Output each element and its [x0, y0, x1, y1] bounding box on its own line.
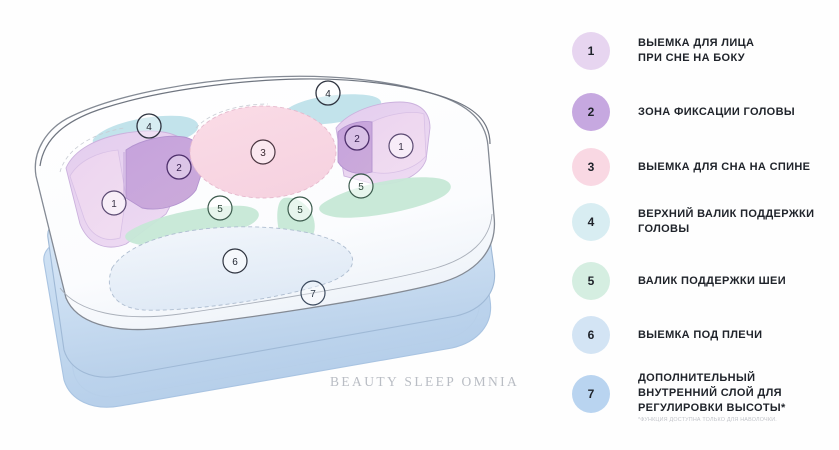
diagram-marker[interactable]: 4	[137, 114, 161, 138]
legend-badge-2: 2	[572, 93, 610, 131]
diagram-marker[interactable]: 1	[389, 134, 413, 158]
legend-item-7[interactable]: 7 ДОПОЛНИТЕЛЬНЫЙ ВНУТРЕННИЙ СЛОЙ ДЛЯ РЕГ…	[572, 371, 786, 416]
diagram-marker[interactable]: 1	[102, 191, 126, 215]
diagram-marker[interactable]: 7	[301, 281, 325, 305]
diagram-marker[interactable]: 4	[316, 81, 340, 105]
svg-text:7: 7	[310, 289, 316, 300]
svg-text:1: 1	[111, 199, 117, 210]
svg-text:5: 5	[358, 182, 364, 193]
diagram-marker[interactable]: 2	[345, 126, 369, 150]
legend-badge-7: 7	[572, 375, 610, 413]
diagram-marker[interactable]: 5	[208, 196, 232, 220]
legend-footnote: *ФУНКЦИЯ ДОСТУПНА ТОЛЬКО ДЛЯ НАВОЛОЧКИ.	[638, 417, 777, 423]
legend-label-3: ВЫЕМКА ДЛЯ СНА НА СПИНЕ	[638, 160, 810, 175]
svg-text:2: 2	[176, 163, 182, 174]
legend-label-4: ВЕРХНИЙ ВАЛИК ПОДДЕРЖКИ ГОЛОВЫ	[638, 207, 814, 237]
legend-item-1[interactable]: 1 ВЫЕМКА ДЛЯ ЛИЦА ПРИ СНЕ НА БОКУ	[572, 32, 754, 70]
brand-wordmark: BEAUTY SLEEP OMNIA	[330, 374, 519, 390]
legend-item-4[interactable]: 4 ВЕРХНИЙ ВАЛИК ПОДДЕРЖКИ ГОЛОВЫ	[572, 203, 814, 241]
legend-label-6: ВЫЕМКА ПОД ПЛЕЧИ	[638, 328, 762, 343]
diagram-marker[interactable]: 5	[349, 174, 373, 198]
pillow-infographic: 1 2 3 4 5	[0, 0, 839, 450]
legend-list: 1 ВЫЕМКА ДЛЯ ЛИЦА ПРИ СНЕ НА БОКУ 2 ЗОНА…	[572, 0, 839, 450]
legend-item-5[interactable]: 5 ВАЛИК ПОДДЕРЖКИ ШЕИ	[572, 262, 786, 300]
svg-text:4: 4	[146, 122, 152, 133]
legend-item-2[interactable]: 2 ЗОНА ФИКСАЦИИ ГОЛОВЫ	[572, 93, 795, 131]
legend-item-3[interactable]: 3 ВЫЕМКА ДЛЯ СНА НА СПИНЕ	[572, 148, 810, 186]
diagram-marker[interactable]: 2	[167, 155, 191, 179]
pillow-illustration: 1 2 3 4 5	[0, 0, 560, 450]
legend-badge-5: 5	[572, 262, 610, 300]
legend-label-1: ВЫЕМКА ДЛЯ ЛИЦА ПРИ СНЕ НА БОКУ	[638, 36, 754, 66]
legend-item-6[interactable]: 6 ВЫЕМКА ПОД ПЛЕЧИ	[572, 316, 762, 354]
legend-label-5: ВАЛИК ПОДДЕРЖКИ ШЕИ	[638, 274, 786, 289]
legend-label-2: ЗОНА ФИКСАЦИИ ГОЛОВЫ	[638, 105, 795, 120]
svg-text:2: 2	[354, 134, 360, 145]
diagram-marker[interactable]: 5	[288, 197, 312, 221]
svg-text:3: 3	[260, 148, 266, 159]
legend-badge-1: 1	[572, 32, 610, 70]
svg-text:1: 1	[398, 142, 404, 153]
legend-badge-4: 4	[572, 203, 610, 241]
diagram-marker[interactable]: 6	[223, 249, 247, 273]
legend-badge-3: 3	[572, 148, 610, 186]
legend-badge-6: 6	[572, 316, 610, 354]
legend-label-7: ДОПОЛНИТЕЛЬНЫЙ ВНУТРЕННИЙ СЛОЙ ДЛЯ РЕГУЛ…	[638, 371, 786, 416]
diagram-marker[interactable]: 3	[251, 140, 275, 164]
svg-text:5: 5	[217, 204, 223, 215]
svg-text:4: 4	[325, 89, 331, 100]
svg-text:5: 5	[297, 205, 303, 216]
svg-text:6: 6	[232, 257, 238, 268]
